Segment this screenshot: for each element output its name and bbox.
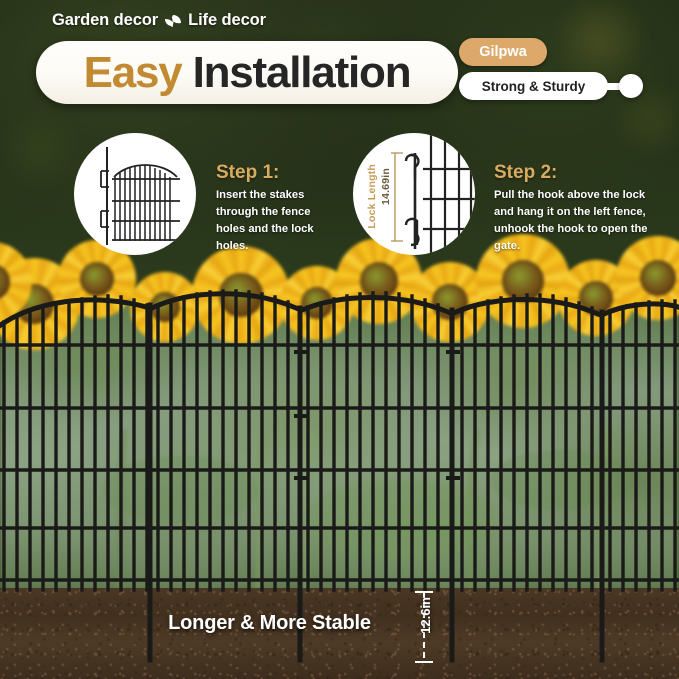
step-1-heading: Step 1: <box>216 162 279 184</box>
title-word-accent: Easy <box>84 48 182 97</box>
step-1-body: Insert the stakes through the fence hole… <box>216 187 342 255</box>
step-2-body: Pull the hook above the lock and hang it… <box>494 187 666 255</box>
product-infographic: Garden decor Life decor Easy Installatio… <box>0 0 679 679</box>
fence-panel-right <box>602 301 679 590</box>
fence-panel-left <box>0 296 152 590</box>
brand-tagline: Garden decor Life decor <box>52 11 266 30</box>
depth-value-label: 12.6in <box>418 597 433 634</box>
title-word-main: Installation <box>193 48 411 97</box>
brand-right-text: Life decor <box>188 11 266 30</box>
brand-left-text: Garden decor <box>52 11 158 30</box>
title-banner: Easy Installation <box>36 41 458 104</box>
step-2-heading: Step 2: <box>494 162 557 184</box>
step-1-illustration <box>74 133 196 255</box>
lock-length-label: Lock Length <box>366 164 378 229</box>
fence-panel-fourth <box>454 295 602 590</box>
tagline-badge: Strong & Sturdy <box>459 72 608 100</box>
bottom-caption: Longer & More Stable <box>0 612 679 635</box>
leaf-icon <box>163 13 183 29</box>
fence-gate-panel <box>302 293 452 590</box>
tagline-badge-group: Strong & Sturdy <box>459 72 643 100</box>
tagline-dot <box>619 74 643 98</box>
brand-badge: Gilpwa <box>459 38 547 66</box>
fence-panel-second <box>152 291 300 590</box>
page-title: Easy Installation <box>84 51 411 95</box>
fence-stakes <box>150 305 602 660</box>
lock-length-value: 14.69in <box>380 168 392 205</box>
